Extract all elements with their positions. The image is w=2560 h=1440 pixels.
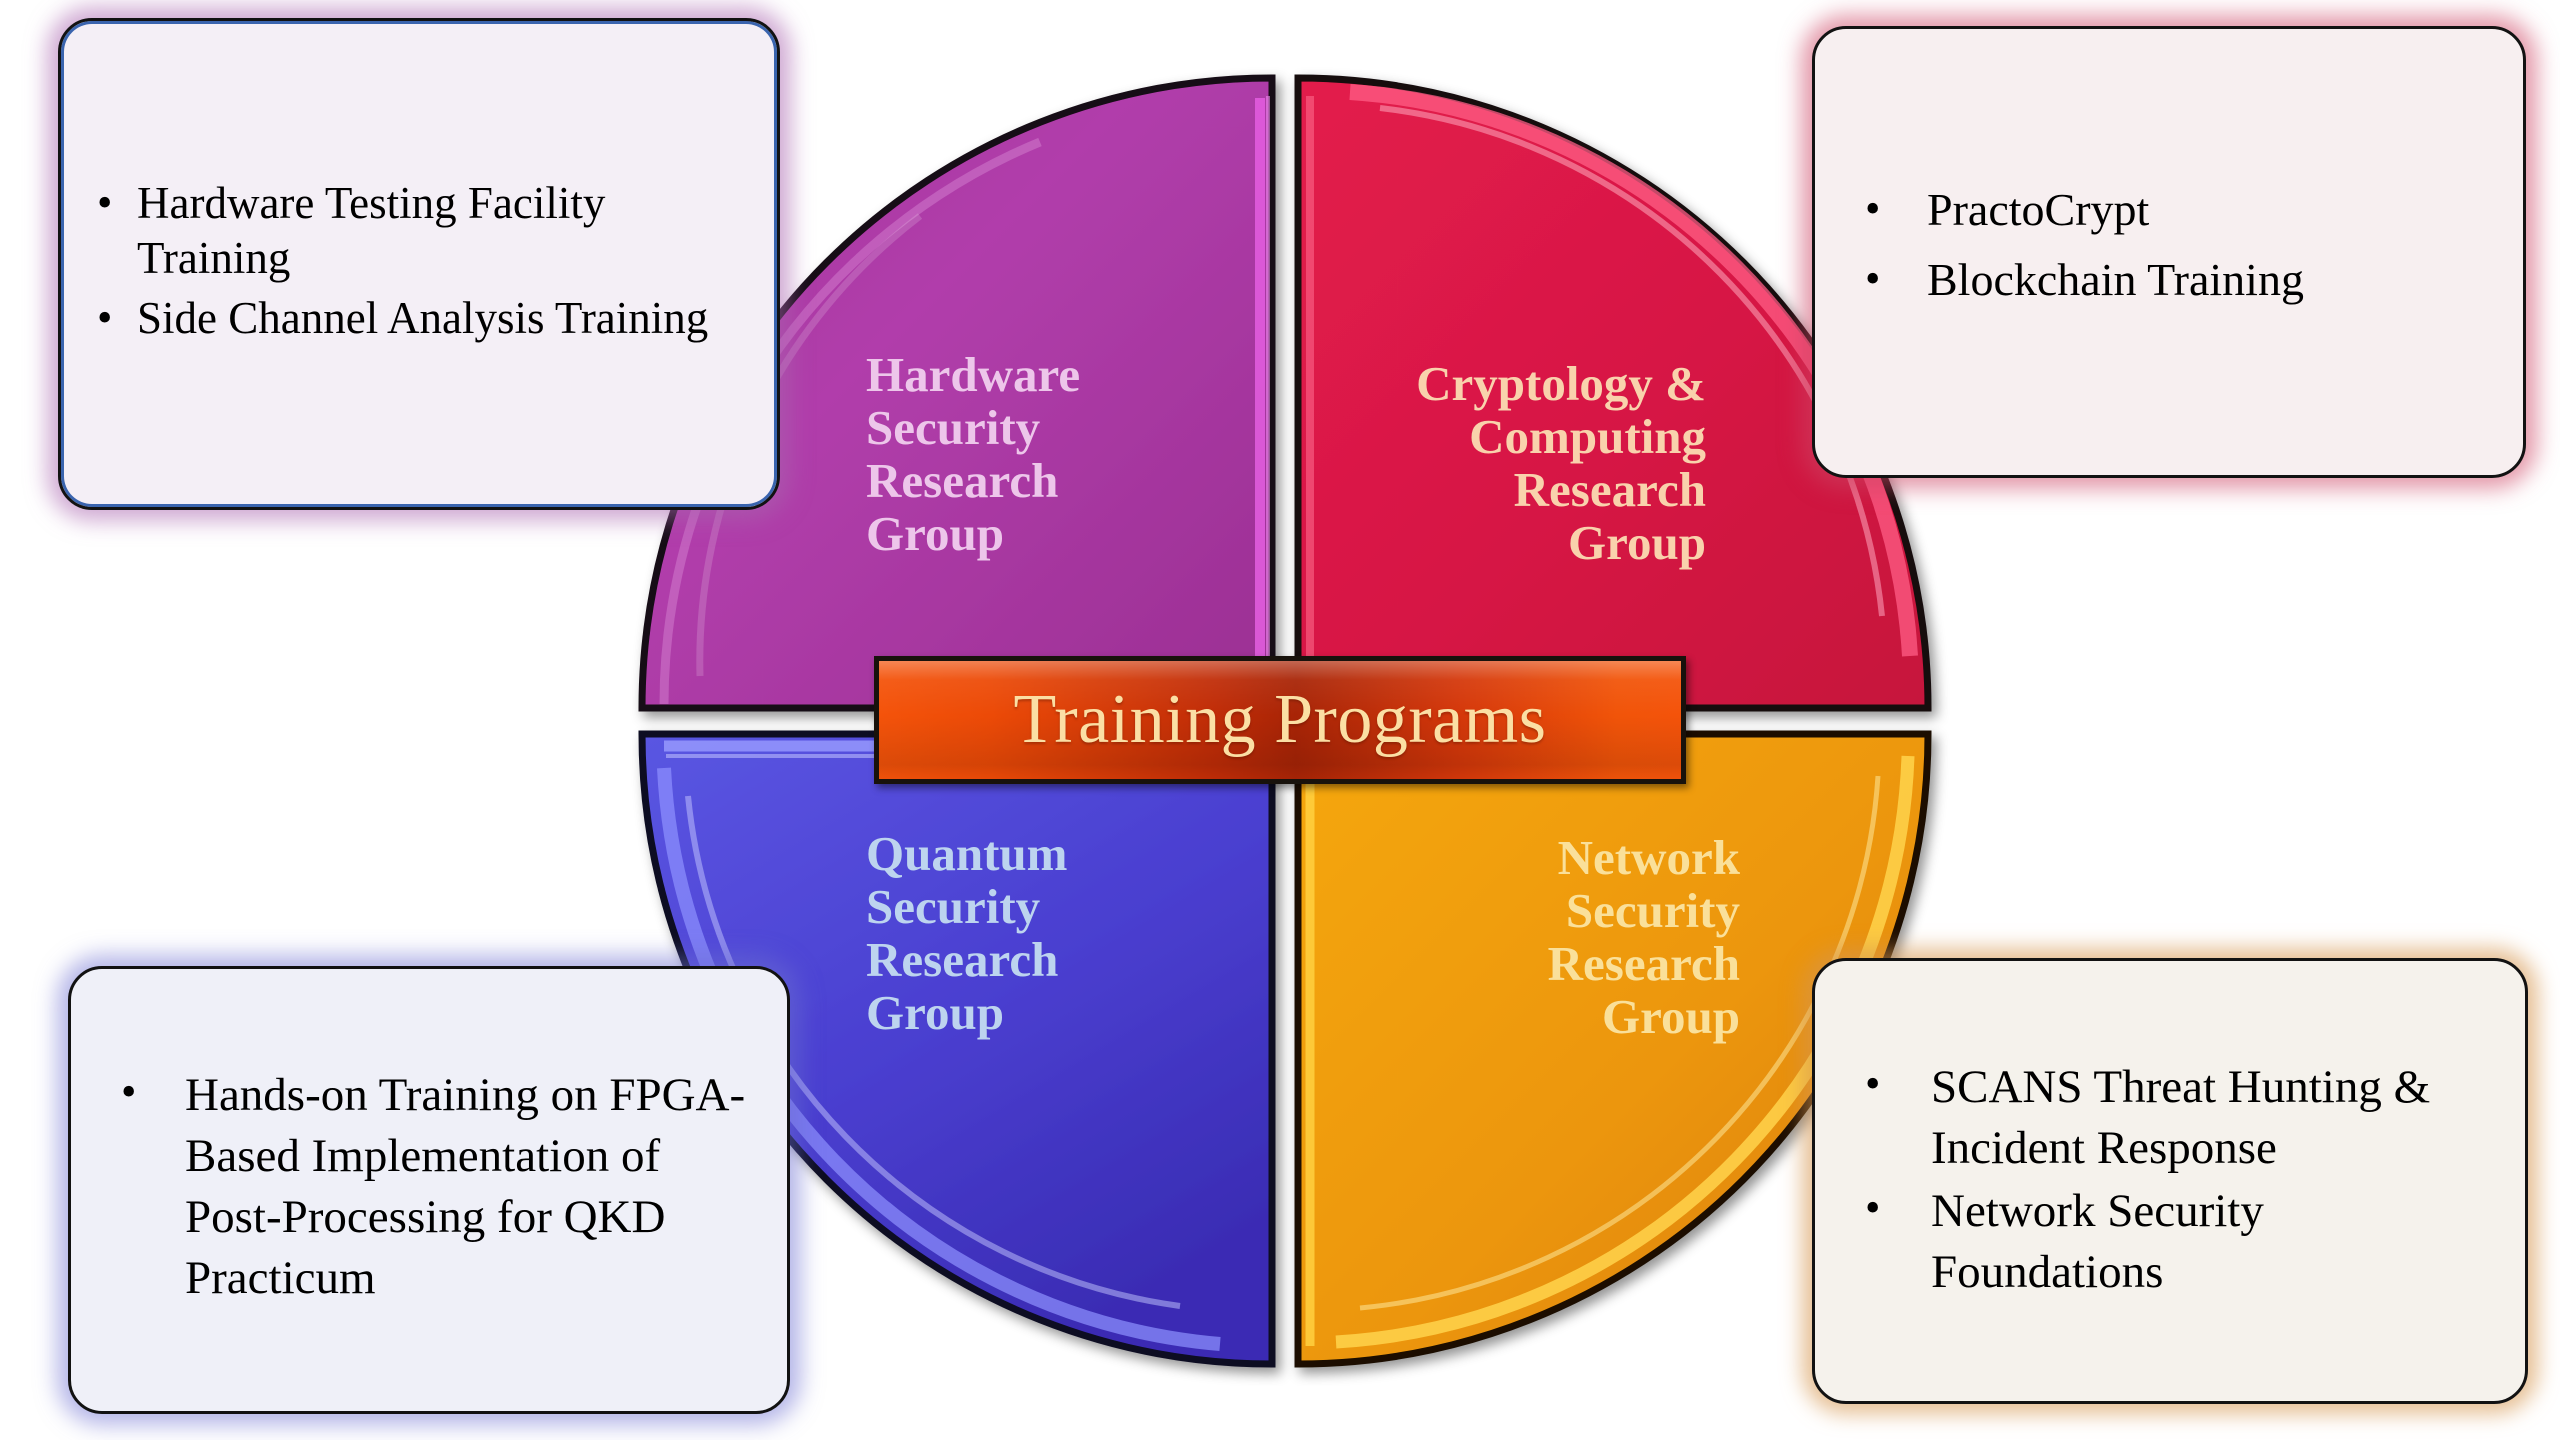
list-item: • Side Channel Analysis Training: [95, 291, 743, 346]
callout-hardware-trainings[interactable]: • Hardware Testing Facility Training • S…: [58, 18, 780, 510]
center-banner[interactable]: Training Programs: [874, 656, 1686, 784]
callout-list: • Hands-on Training on FPGA-Based Implem…: [105, 1065, 753, 1315]
list-item-label: SCANS Threat Hunting & Incident Response: [1931, 1061, 2430, 1174]
list-item-label: Hands-on Training on FPGA-Based Implemen…: [185, 1069, 745, 1304]
list-item-label: Hardware Testing Facility Training: [137, 178, 605, 283]
list-item: • Hardware Testing Facility Training: [95, 176, 743, 286]
callout-list: • SCANS Threat Hunting & Incident Respon…: [1849, 1057, 2491, 1305]
list-item: • Hands-on Training on FPGA-Based Implem…: [105, 1065, 753, 1309]
callout-quantum-trainings[interactable]: • Hands-on Training on FPGA-Based Implem…: [68, 966, 790, 1414]
callout-list: • Hardware Testing Facility Training • S…: [95, 176, 743, 353]
list-item: • Blockchain Training: [1849, 252, 2489, 308]
bullet-icon: •: [121, 1065, 136, 1119]
callout-cryptology-trainings[interactable]: • PractoCrypt • Blockchain Training: [1812, 26, 2526, 478]
list-item: • PractoCrypt: [1849, 182, 2489, 238]
bullet-icon: •: [1865, 1057, 1880, 1111]
center-banner-label: Training Programs: [1014, 685, 1547, 755]
bullet-icon: •: [1865, 1181, 1880, 1235]
bullet-icon: •: [1865, 252, 1880, 306]
bullet-icon: •: [97, 176, 112, 230]
list-item: • SCANS Threat Hunting & Incident Respon…: [1849, 1057, 2491, 1179]
list-item-label: PractoCrypt: [1927, 184, 2149, 235]
bullet-icon: •: [97, 291, 112, 345]
bullet-icon: •: [1865, 182, 1880, 236]
callout-network-trainings[interactable]: • SCANS Threat Hunting & Incident Respon…: [1812, 958, 2528, 1404]
list-item-label: Network Security Foundations: [1931, 1185, 2264, 1298]
callout-list: • PractoCrypt • Blockchain Training: [1849, 182, 2489, 322]
list-item-label: Blockchain Training: [1927, 254, 2304, 305]
list-item-label: Side Channel Analysis Training: [137, 293, 708, 343]
list-item: • Network Security Foundations: [1849, 1181, 2491, 1303]
